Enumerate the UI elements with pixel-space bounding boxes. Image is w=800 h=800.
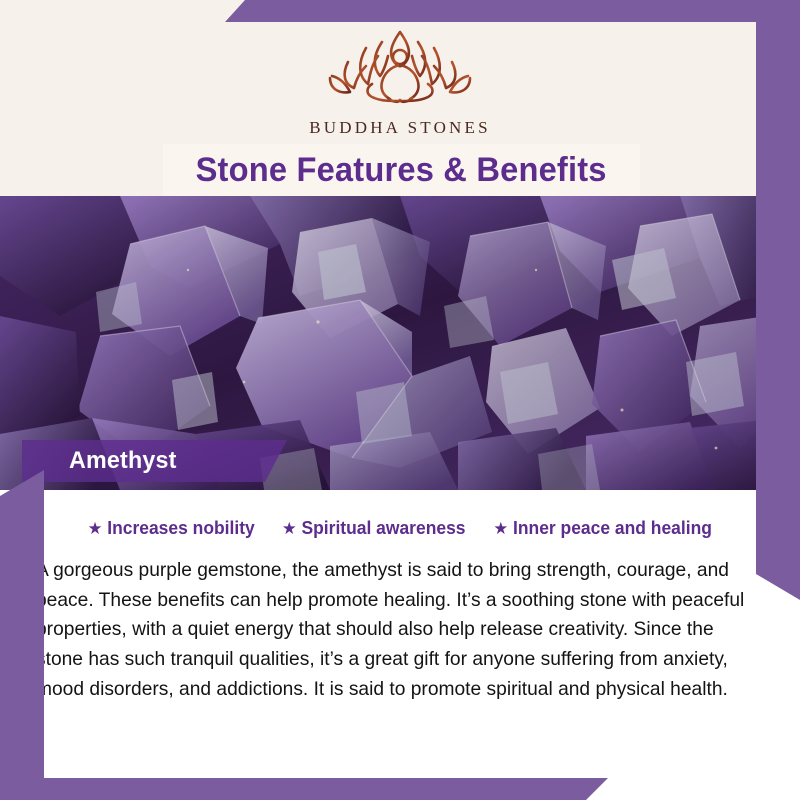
- star-icon: ★: [494, 520, 509, 537]
- infographic-page: Amethyst: [0, 0, 800, 800]
- benefit-item: ★ Increases nobility: [87, 518, 254, 539]
- benefit-label: Increases nobility: [107, 518, 255, 539]
- star-icon: ★: [282, 520, 297, 537]
- star-icon: ★: [87, 520, 102, 537]
- benefit-label: Inner peace and healing: [513, 518, 712, 539]
- brand-name: BUDDHA STONES: [309, 118, 491, 138]
- frame-top-accent: [225, 0, 800, 22]
- stone-name-label: Amethyst: [24, 447, 176, 475]
- page-title: Stone Features & Benefits: [196, 151, 607, 190]
- brand-logo: BUDDHA STONES: [0, 22, 800, 138]
- benefits-list: ★ Increases nobility ★ Spiritual awarene…: [0, 518, 800, 539]
- benefit-label: Spiritual awareness: [301, 518, 465, 539]
- lotus-meditation-logo-icon: [310, 22, 490, 114]
- stone-name-banner: Amethyst: [22, 440, 287, 482]
- frame-right-accent: [756, 0, 800, 600]
- benefit-item: ★ Inner peace and healing: [494, 518, 713, 539]
- page-title-card: Stone Features & Benefits: [163, 144, 640, 196]
- hero-image: Amethyst: [0, 196, 800, 490]
- stone-description: A gorgeous purple gemstone, the amethyst…: [36, 556, 755, 704]
- benefit-item: ★ Spiritual awareness: [282, 518, 466, 539]
- frame-bottom-accent: [0, 778, 608, 800]
- frame-left-accent: [0, 470, 44, 800]
- content-panel: ★ Increases nobility ★ Spiritual awarene…: [0, 490, 800, 800]
